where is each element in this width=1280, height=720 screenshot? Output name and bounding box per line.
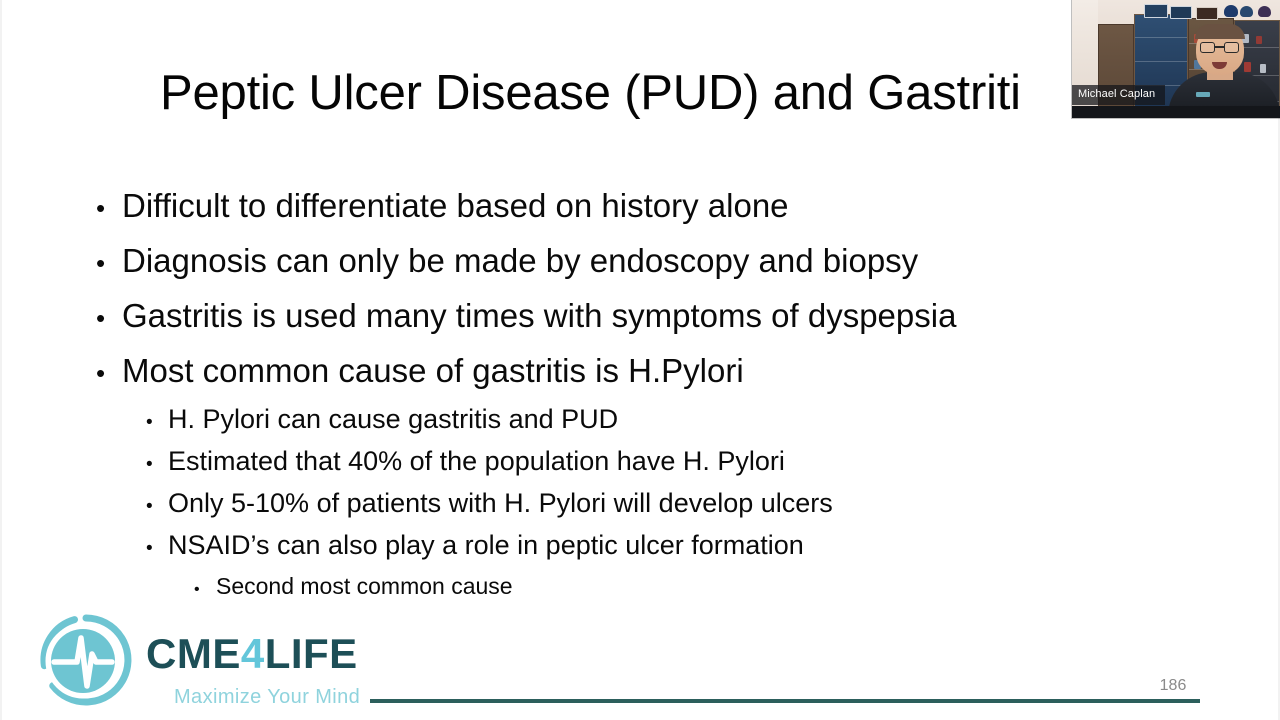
bullet-item: • H. Pylori can cause gastritis and PUD — [0, 398, 1280, 440]
logo-word-cme: CME — [146, 630, 241, 677]
bullet-marker: • — [96, 236, 122, 291]
bullet-text: Difficult to differentiate based on hist… — [122, 178, 789, 233]
bullet-text: Only 5-10% of patients with H. Pylori wi… — [168, 482, 833, 524]
logo-tagline: Maximize Your Mind — [174, 684, 360, 710]
video-tile-bottom-bar — [1072, 106, 1280, 118]
glasses-icon — [1224, 42, 1239, 53]
bullet-item: • Second most common cause — [0, 566, 1280, 606]
bullet-marker: • — [146, 444, 168, 486]
bullet-marker: • — [96, 291, 122, 346]
bullet-marker: • — [146, 402, 168, 444]
participant-name-label: Michael Caplan — [1072, 85, 1165, 105]
bullet-item: • Difficult to differentiate based on hi… — [0, 178, 1280, 233]
bullet-text: NSAID’s can also play a role in peptic u… — [168, 524, 804, 566]
bullet-marker: • — [96, 181, 122, 236]
shirt-logo — [1196, 92, 1210, 97]
page-number: 186 — [1145, 675, 1201, 697]
bullet-item: • Gastritis is used many times with symp… — [0, 288, 1280, 343]
footer-rule — [370, 699, 1200, 703]
bullet-text: Gastritis is used many times with sympto… — [122, 288, 956, 343]
slide-body: • Difficult to differentiate based on hi… — [0, 178, 1280, 606]
heartbeat-circle-icon — [38, 612, 134, 708]
helmet-collectible — [1224, 5, 1238, 17]
glasses-bridge — [1215, 46, 1224, 48]
bullet-text: H. Pylori can cause gastritis and PUD — [168, 398, 618, 440]
bullet-marker: • — [194, 570, 216, 610]
bullet-marker: • — [96, 346, 122, 401]
bullet-item: • Most common cause of gastritis is H.Py… — [0, 343, 1280, 398]
bullet-marker: • — [146, 486, 168, 528]
logo-word-four: 4 — [241, 630, 265, 677]
bullet-item: • NSAID’s can also play a role in peptic… — [0, 524, 1280, 566]
bullet-item: • Only 5-10% of patients with H. Pylori … — [0, 482, 1280, 524]
bullet-text: Second most common cause — [216, 566, 513, 606]
helmet-collectible — [1258, 6, 1271, 17]
slide-title: Peptic Ulcer Disease (PUD) and Gastriti — [160, 58, 1100, 128]
bullet-text: Estimated that 40% of the population hav… — [168, 440, 785, 482]
logo-wordmark: CME4LIFE — [146, 630, 358, 678]
bullet-item: • Estimated that 40% of the population h… — [0, 440, 1280, 482]
framed-picture — [1144, 4, 1168, 18]
bullet-marker: • — [146, 528, 168, 570]
logo-word-life: LIFE — [265, 630, 358, 677]
video-participant-tile[interactable]: Michael Caplan — [1072, 0, 1280, 118]
slide-stage: Peptic Ulcer Disease (PUD) and Gastriti … — [0, 0, 1280, 720]
bullet-item: • Diagnosis can only be made by endoscop… — [0, 233, 1280, 288]
cme4life-logo: CME4LIFE Maximize Your Mind — [38, 608, 383, 712]
helmet-collectible — [1240, 6, 1253, 17]
participant-hair — [1195, 24, 1245, 39]
glasses-icon — [1200, 42, 1215, 53]
bullet-text: Most common cause of gastritis is H.Pylo… — [122, 343, 744, 398]
framed-picture — [1196, 7, 1218, 20]
framed-picture — [1170, 6, 1192, 19]
bullet-text: Diagnosis can only be made by endoscopy … — [122, 233, 918, 288]
